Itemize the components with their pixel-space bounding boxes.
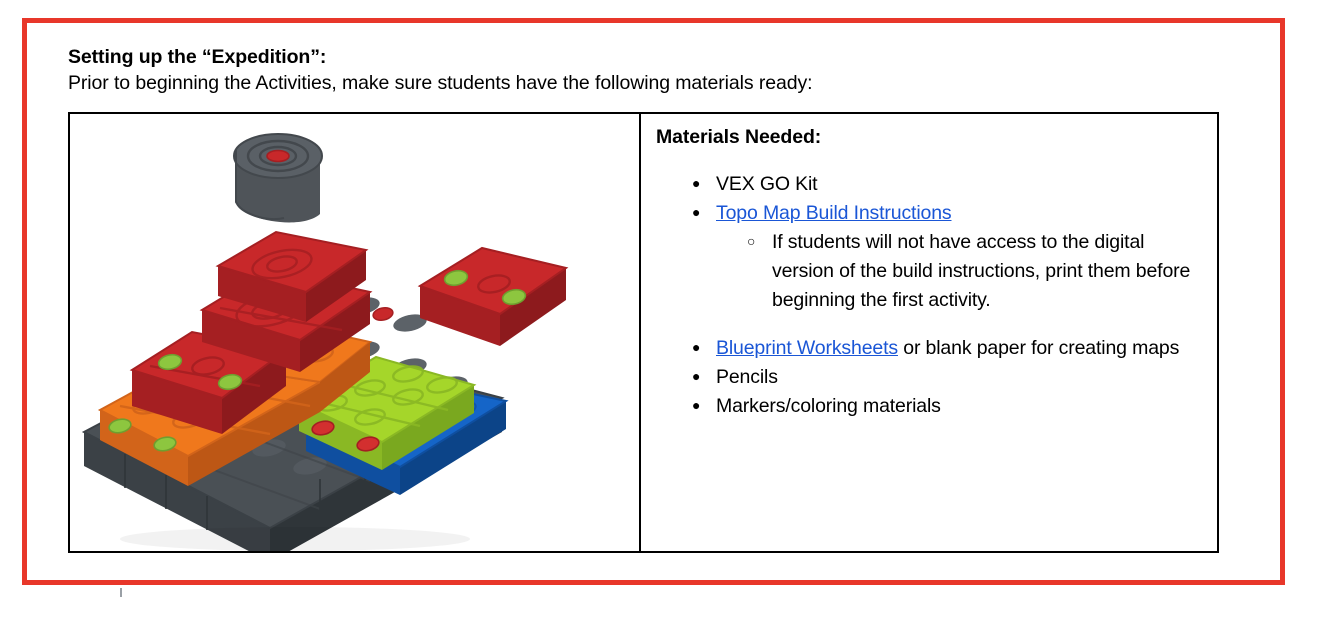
list-item-label: VEX GO Kit <box>716 173 817 195</box>
list-item-label: Markers/coloring materials <box>716 395 941 417</box>
materials-table: Materials Needed: VEX GO Kit Topo Map Bu… <box>68 112 1219 553</box>
materials-needed-title: Materials Needed: <box>656 124 1209 150</box>
page-subtitle: Prior to beginning the Activities, make … <box>68 70 1220 96</box>
list-spacer <box>716 315 1209 334</box>
sublist-item-label: If students will not have access to the … <box>772 231 1190 311</box>
list-item-vex-go-kit: VEX GO Kit <box>716 170 1209 199</box>
blueprint-worksheets-link[interactable]: Blueprint Worksheets <box>716 337 898 359</box>
document-body: Setting up the “Expedition”: Prior to be… <box>68 44 1220 556</box>
red-peg <box>267 151 289 162</box>
page-title: Setting up the “Expedition”: <box>68 44 1220 70</box>
list-item-trailing-text: or blank paper for creating maps <box>898 337 1179 359</box>
page-break-tick <box>120 588 122 597</box>
table-cell-illustration <box>70 114 641 551</box>
list-item-label: Pencils <box>716 366 778 388</box>
materials-list: VEX GO Kit Topo Map Build Instructions I… <box>656 170 1209 421</box>
list-item-print-instructions-note: If students will not have access to the … <box>772 228 1209 315</box>
topo-map-build-instructions-link[interactable]: Topo Map Build Instructions <box>716 202 952 224</box>
vex-go-topo-map-image <box>70 114 641 551</box>
list-item-topo-map-build-instructions: Topo Map Build Instructions If students … <box>716 199 1209 315</box>
list-item-markers: Markers/coloring materials <box>716 392 1209 421</box>
list-item-blueprint-worksheets: Blueprint Worksheets or blank paper for … <box>716 334 1209 363</box>
table-cell-materials: Materials Needed: VEX GO Kit Topo Map Bu… <box>641 114 1217 551</box>
list-item-pencils: Pencils <box>716 363 1209 392</box>
materials-sublist: If students will not have access to the … <box>716 228 1209 315</box>
